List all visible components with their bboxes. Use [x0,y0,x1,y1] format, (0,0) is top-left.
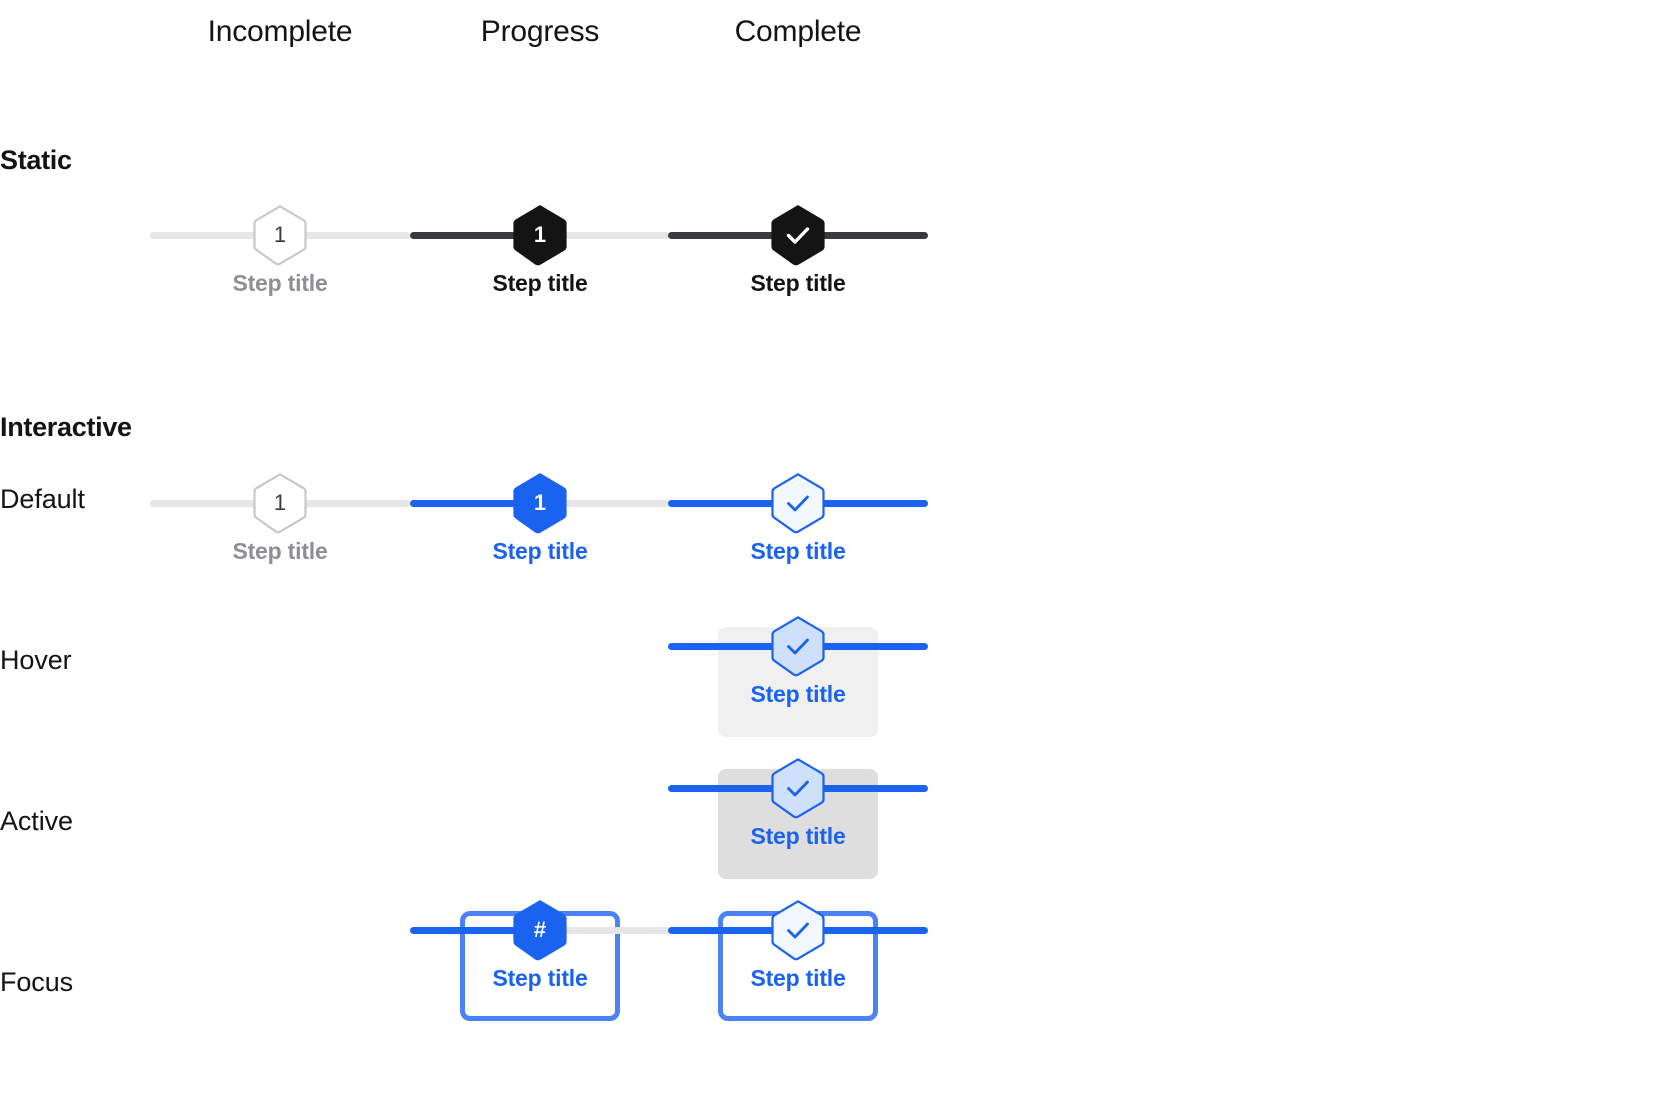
step-marker-hexagon: 1 [512,204,568,266]
stepper-item-focus-progress[interactable]: # Step title [460,911,620,1021]
step-title: Step title [718,268,878,298]
stepper-item-focus-complete[interactable]: Step title [718,911,878,1021]
stepper-item-hover-complete[interactable]: Step title [718,627,878,737]
step-marker-hexagon [770,472,826,534]
step-marker-hexagon [770,615,826,677]
cell-default-incomplete[interactable]: 1 Step title [150,458,410,598]
step-marker-hexagon [770,757,826,819]
state-label-active: Active [0,804,73,838]
cell-static-complete: Step title [668,190,928,330]
cell-focus-progress[interactable]: # Step title [410,885,670,1025]
stepper-item-default-incomplete[interactable]: 1 Step title [200,484,360,594]
stepper-item-default-progress[interactable]: 1 Step title [460,484,620,594]
step-marker-hexagon: # [512,899,568,961]
step-marker-hexagon: 1 [512,472,568,534]
step-title: Step title [465,963,615,993]
column-header-progress: Progress [410,12,670,52]
cell-default-progress[interactable]: 1 Step title [410,458,670,598]
stepper-item-active-complete[interactable]: Step title [718,769,878,879]
cell-active-complete[interactable]: Step title [668,743,928,883]
step-marker-hexagon: 1 [252,204,308,266]
cell-default-complete[interactable]: Step title [668,458,928,598]
step-title: Step title [460,536,620,566]
state-label-hover: Hover [0,643,72,677]
section-label-interactive: Interactive [0,410,132,444]
step-title: Step title [200,536,360,566]
column-header-incomplete: Incomplete [150,12,410,52]
step-title: Step title [718,536,878,566]
step-title: Step title [718,679,878,709]
cell-static-progress: 1 Step title [410,190,670,330]
cell-focus-complete[interactable]: Step title [668,885,928,1025]
stepper-item-default-complete[interactable]: Step title [718,484,878,594]
column-header-complete: Complete [668,12,928,52]
stepper-spec-sheet: Incomplete Progress Complete Static Inte… [0,0,1672,1100]
step-marker-hexagon [770,899,826,961]
step-marker-hexagon [770,204,826,266]
stepper-item-static-incomplete: 1 Step title [200,216,360,326]
state-label-focus: Focus [0,965,73,999]
stepper-item-static-progress: 1 Step title [460,216,620,326]
cell-hover-complete[interactable]: Step title [668,601,928,741]
stepper-item-static-complete: Step title [718,216,878,326]
cell-static-incomplete: 1 Step title [150,190,410,330]
section-label-static: Static [0,143,72,177]
step-title: Step title [723,963,873,993]
step-title: Step title [460,268,620,298]
state-label-default: Default [0,482,85,516]
step-title: Step title [718,821,878,851]
step-title: Step title [200,268,360,298]
step-marker-hexagon: 1 [252,472,308,534]
